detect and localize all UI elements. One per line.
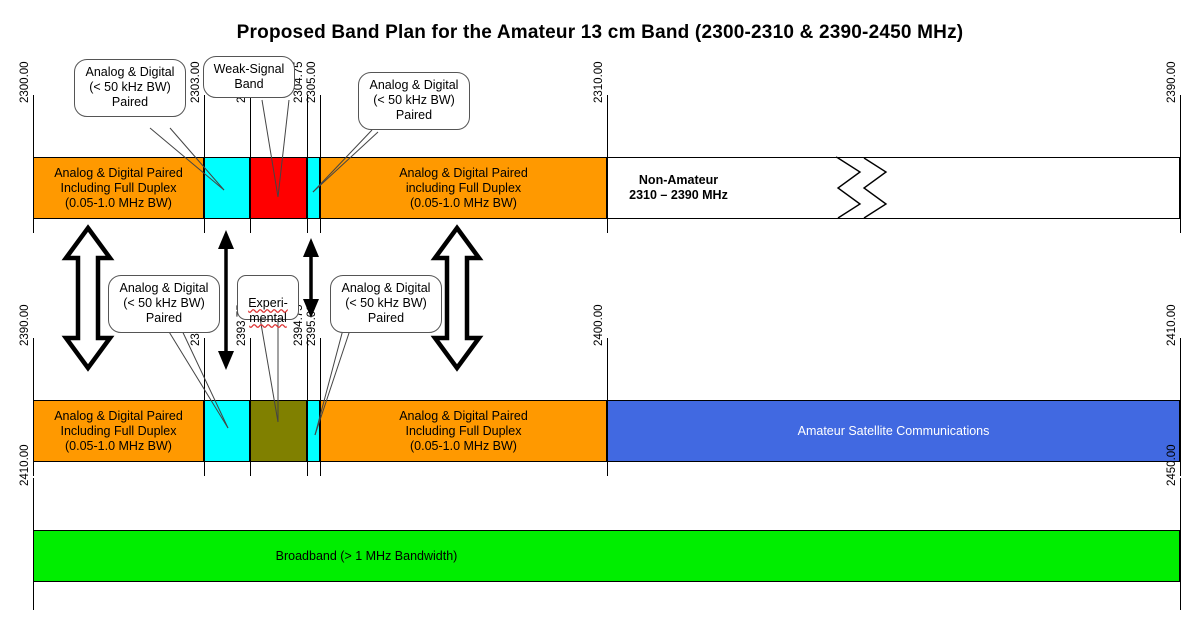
callout-analog-digital-1: Analog & Digital (< 50 kHz BW) Paired [74, 59, 186, 117]
callout-analog-digital-4: Analog & Digital (< 50 kHz BW) Paired [330, 275, 442, 333]
axis-break-zigzag [836, 156, 906, 220]
callout-weak-signal: Weak-Signal Band [203, 56, 295, 98]
hollow-arrow-left [66, 228, 110, 368]
callout-experimental-text: Experi- mental [248, 296, 288, 325]
band-plan-diagram: Proposed Band Plan for the Amateur 13 cm… [0, 0, 1200, 617]
solid-arrow-narrow-lower [218, 230, 234, 370]
solid-arrow-narrow-upper [303, 238, 319, 318]
callout-analog-digital-3: Analog & Digital (< 50 kHz BW) Paired [108, 275, 220, 333]
callout-analog-digital-2: Analog & Digital (< 50 kHz BW) Paired [358, 72, 470, 130]
callout-experimental: Experi- mental [237, 275, 299, 320]
